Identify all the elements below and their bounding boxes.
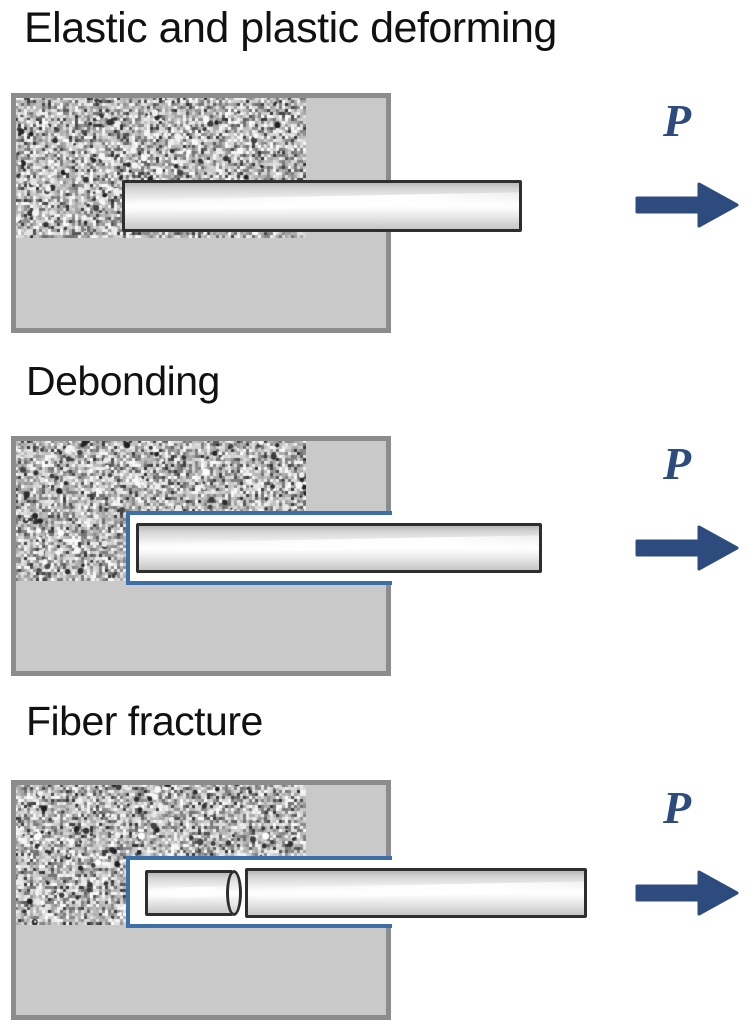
right-arrow-icon [633,866,743,920]
force-label-p-2: P [663,441,691,487]
right-arrow-icon [633,521,743,575]
fiber-debonding [136,523,542,573]
force-label-p-1: P [663,98,691,144]
fiber-elastic-plastic [122,180,522,232]
fiber-fracture-surface [226,870,242,916]
force-label-p-3: P [663,785,691,831]
fiber-broken-stub [145,870,233,916]
panel-caption-debonding: Debonding [26,358,220,405]
fiber-fiber-fracture [245,868,587,918]
panel-caption-elastic-plastic: Elastic and plastic deforming [24,4,557,53]
fiber-pullout-figure: Elastic and plastic deforming P Debondin… [0,0,750,1032]
right-arrow-icon [633,178,743,232]
panel-caption-fiber-fracture: Fiber fracture [26,698,263,745]
